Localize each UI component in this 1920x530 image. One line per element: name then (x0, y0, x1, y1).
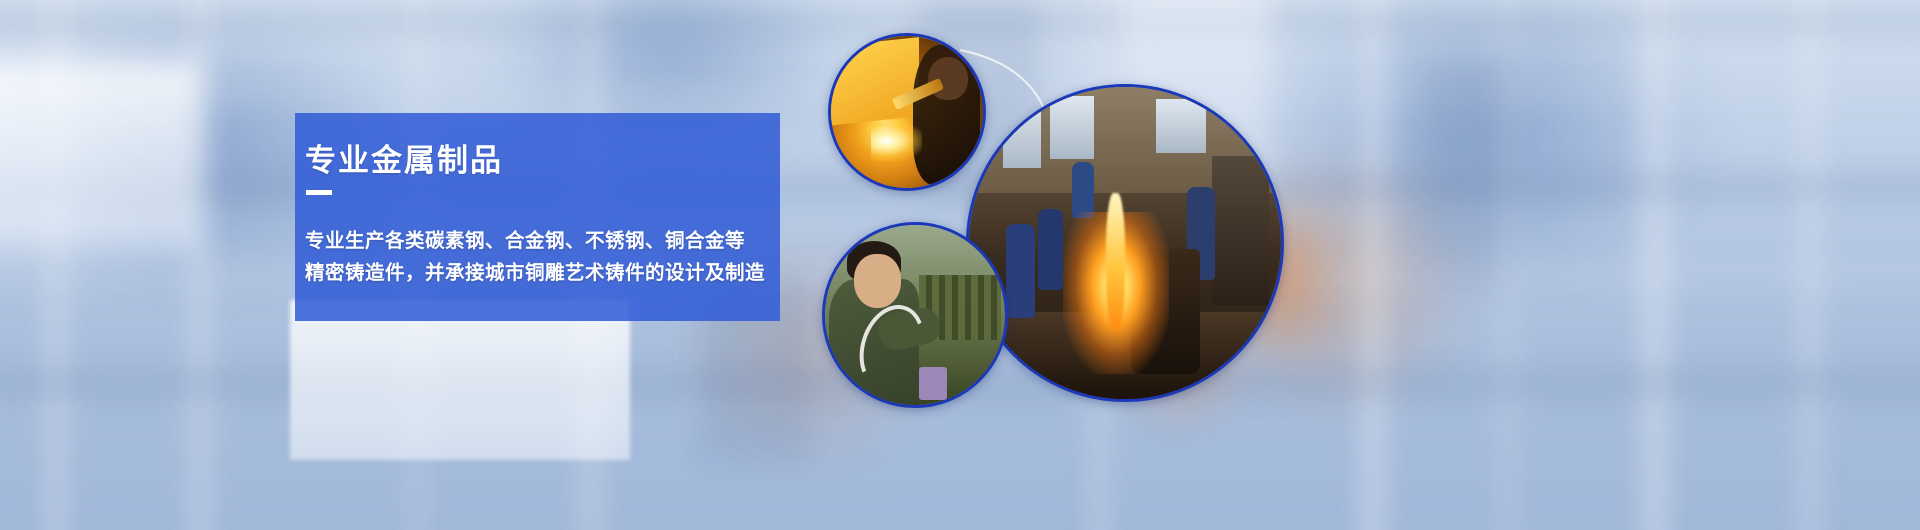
hero-banner: 专业金属制品 专业生产各类碳素钢、合金钢、不锈钢、铜合金等 精密铸造件，并承接城… (0, 0, 1920, 530)
page-title: 专业金属制品 (305, 135, 503, 180)
welding-sparks-photo (828, 33, 986, 191)
foundry-pouring-photo (966, 84, 1284, 402)
title-divider (306, 190, 332, 195)
worker-inspection-photo (822, 222, 1008, 408)
background-light-panel (290, 300, 630, 460)
